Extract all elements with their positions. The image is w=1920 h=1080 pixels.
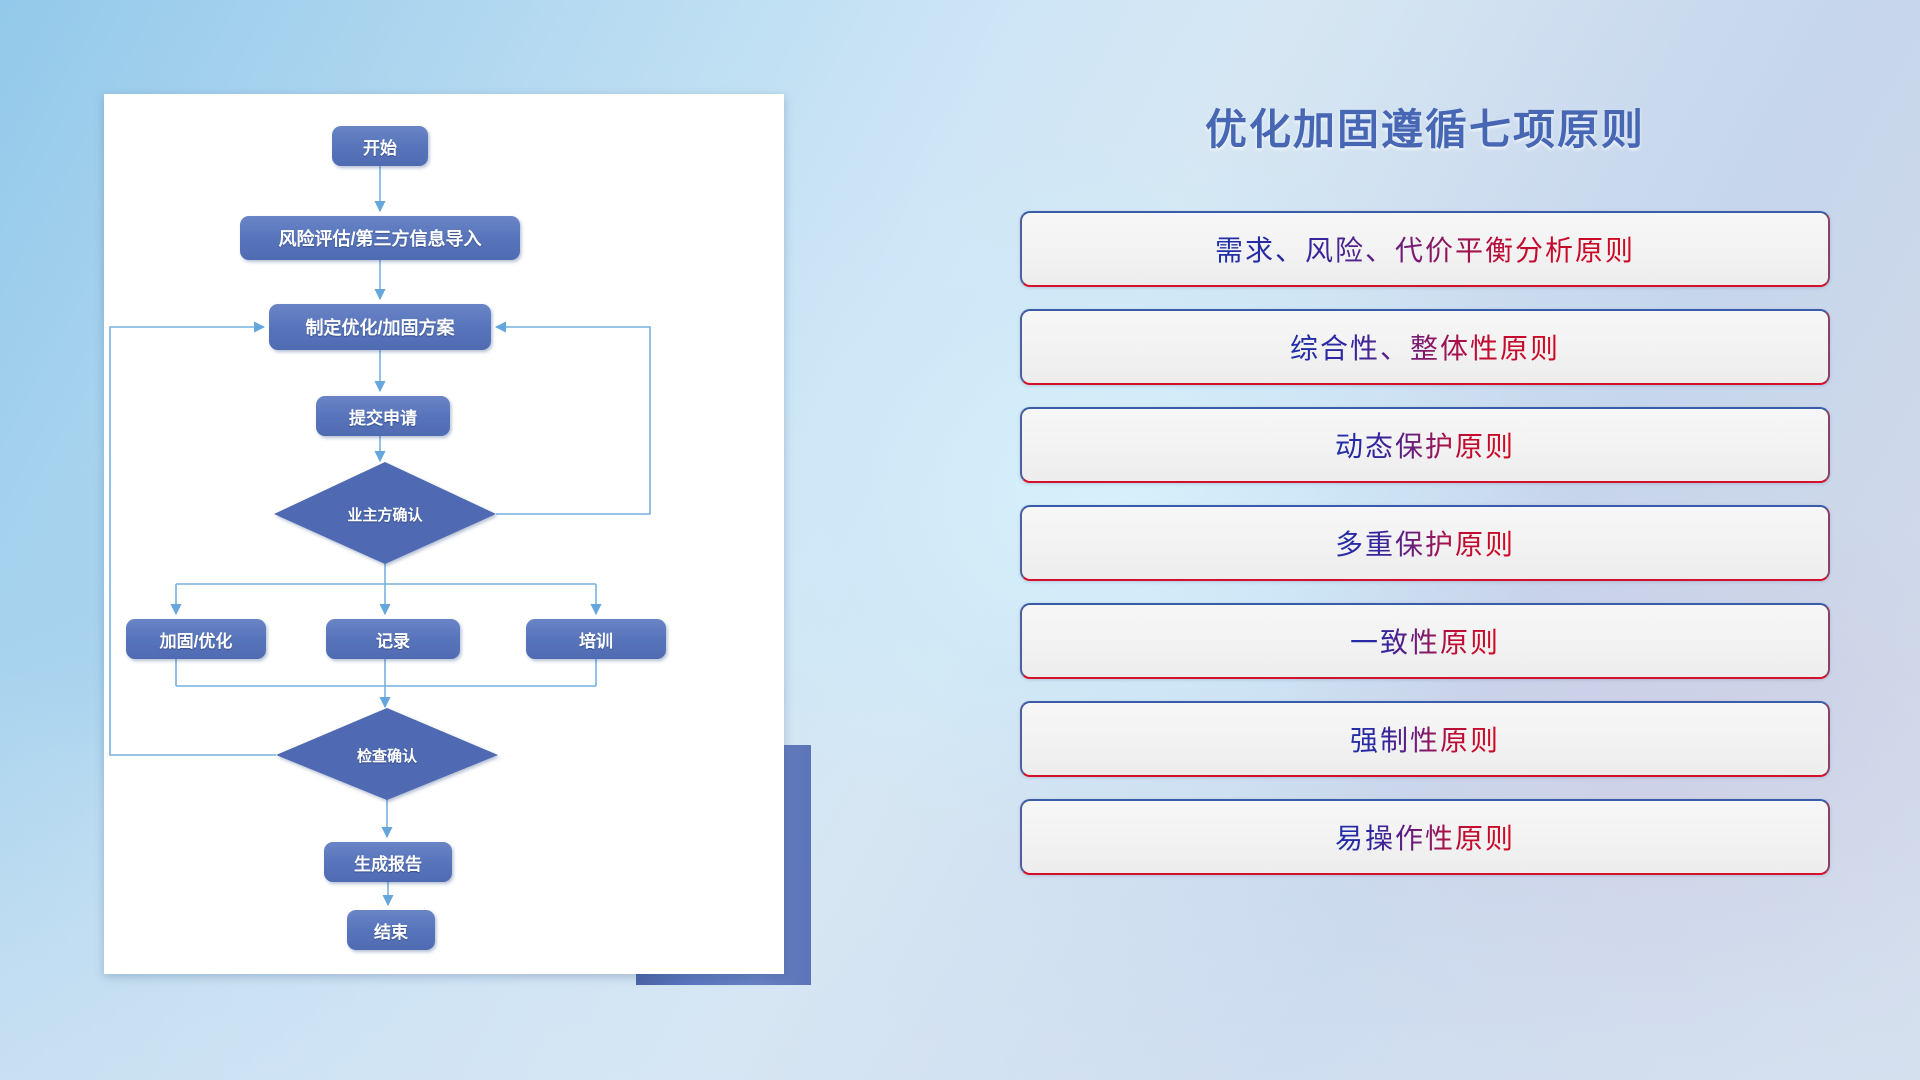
principle-card-label: 多重保护原则 <box>1335 523 1515 563</box>
principles-panel: 优化加固遵循七项原则 需求、风险、代价平衡分析原则 综合性、整体性原则 动态保护… <box>1020 96 1830 897</box>
principle-card[interactable]: 一致性原则 <box>1020 603 1830 679</box>
flowchart-panel: 开始 风险评估/第三方信息导入 制定优化/加固方案 提交申请 业主方确认 加固/… <box>104 94 784 974</box>
principle-card-label: 易操作性原则 <box>1335 817 1515 857</box>
principle-card-label: 强制性原则 <box>1350 719 1500 759</box>
principle-card[interactable]: 综合性、整体性原则 <box>1020 309 1830 385</box>
principle-card-label: 综合性、整体性原则 <box>1290 327 1560 367</box>
principle-card[interactable]: 多重保护原则 <box>1020 505 1830 581</box>
principle-card-label: 需求、风险、代价平衡分析原则 <box>1215 229 1635 269</box>
principle-card-label: 一致性原则 <box>1350 621 1500 661</box>
principle-card[interactable]: 需求、风险、代价平衡分析原则 <box>1020 211 1830 287</box>
principle-card[interactable]: 易操作性原则 <box>1020 799 1830 875</box>
principles-title: 优化加固遵循七项原则 <box>1020 96 1830 157</box>
principle-card[interactable]: 动态保护原则 <box>1020 407 1830 483</box>
flowchart-canvas <box>104 94 784 974</box>
principle-card-label: 动态保护原则 <box>1335 425 1515 465</box>
principle-card[interactable]: 强制性原则 <box>1020 701 1830 777</box>
